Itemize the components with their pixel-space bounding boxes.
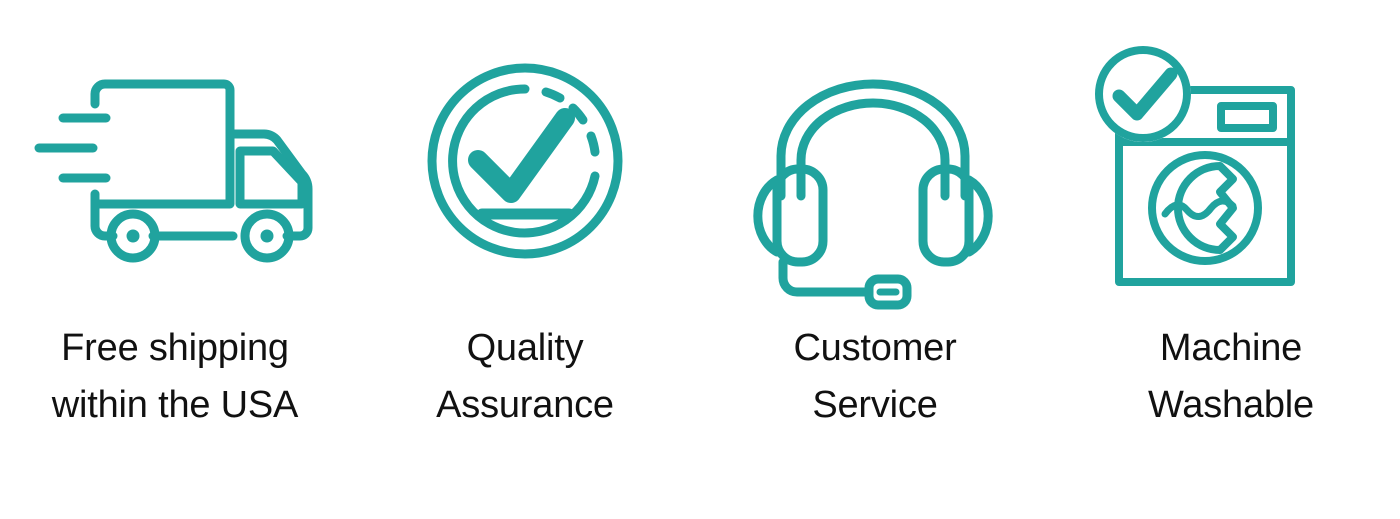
badge-label: Quality Assurance xyxy=(360,320,690,434)
delivery-truck-icon xyxy=(21,56,321,306)
badge-label: Customer Service xyxy=(710,320,1040,434)
badge-label: Free shipping within the USA xyxy=(10,320,340,434)
badge-item-free-shipping: Free shipping within the USA xyxy=(0,0,350,519)
washing-machine-check-icon xyxy=(1081,56,1381,306)
badge-label: Machine Washable xyxy=(1066,320,1396,434)
trust-badge-strip: Free shipping within the USA Quality Ass… xyxy=(0,0,1400,519)
badge-item-customer-service: Customer Service xyxy=(700,0,1050,519)
quality-check-seal-icon xyxy=(375,56,675,306)
badge-item-quality-assurance: Quality Assurance xyxy=(350,0,700,519)
headset-support-icon xyxy=(723,56,1023,306)
badge-item-machine-washable: Machine Washable xyxy=(1050,0,1400,519)
